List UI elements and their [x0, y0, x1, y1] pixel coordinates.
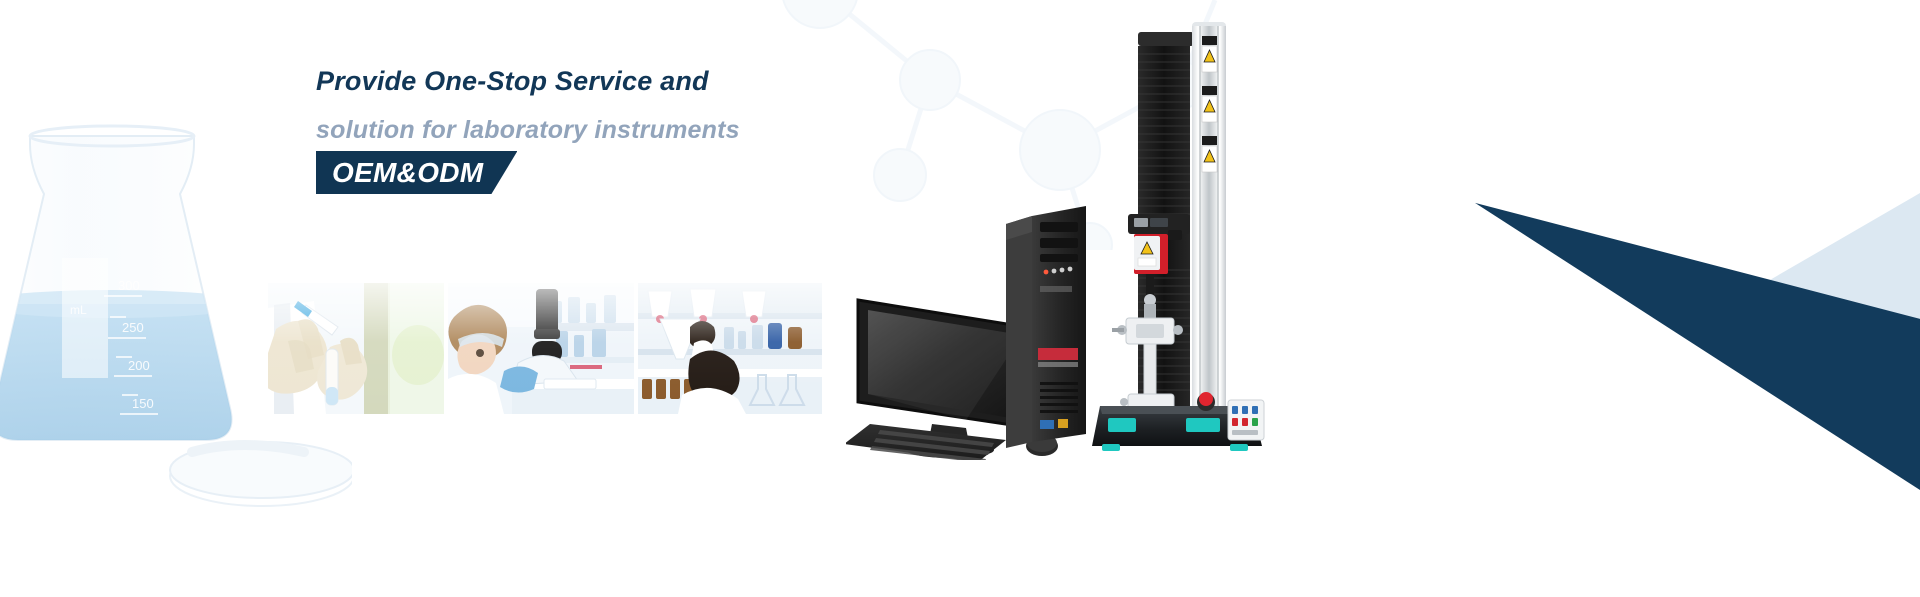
promo-banner: 300 250 200 150 mL Provide One-Stop Serv…: [0, 0, 1920, 597]
flask-graduation-250: 250: [122, 320, 144, 335]
photo-microscope: [448, 283, 634, 414]
flask-graduation-150: 150: [132, 396, 154, 411]
flask-graduation-200: 200: [128, 358, 150, 373]
keyboard: [846, 424, 1006, 460]
petri-dish-icon: [170, 442, 352, 506]
photo-lab-bench: [638, 283, 822, 414]
photo-pipetting: [268, 283, 444, 414]
flask-unit-label: mL: [70, 303, 87, 317]
universal-testing-machine-icon: [1090, 8, 1320, 453]
photo-strip: [268, 283, 822, 414]
oem-odm-badge: OEM&ODM: [316, 151, 517, 194]
oem-odm-badge-label: OEM&ODM: [332, 157, 483, 189]
flask-graduation-300: 300: [118, 278, 140, 293]
pc-tower: [1006, 206, 1086, 448]
warning-label-group: [1202, 36, 1217, 172]
